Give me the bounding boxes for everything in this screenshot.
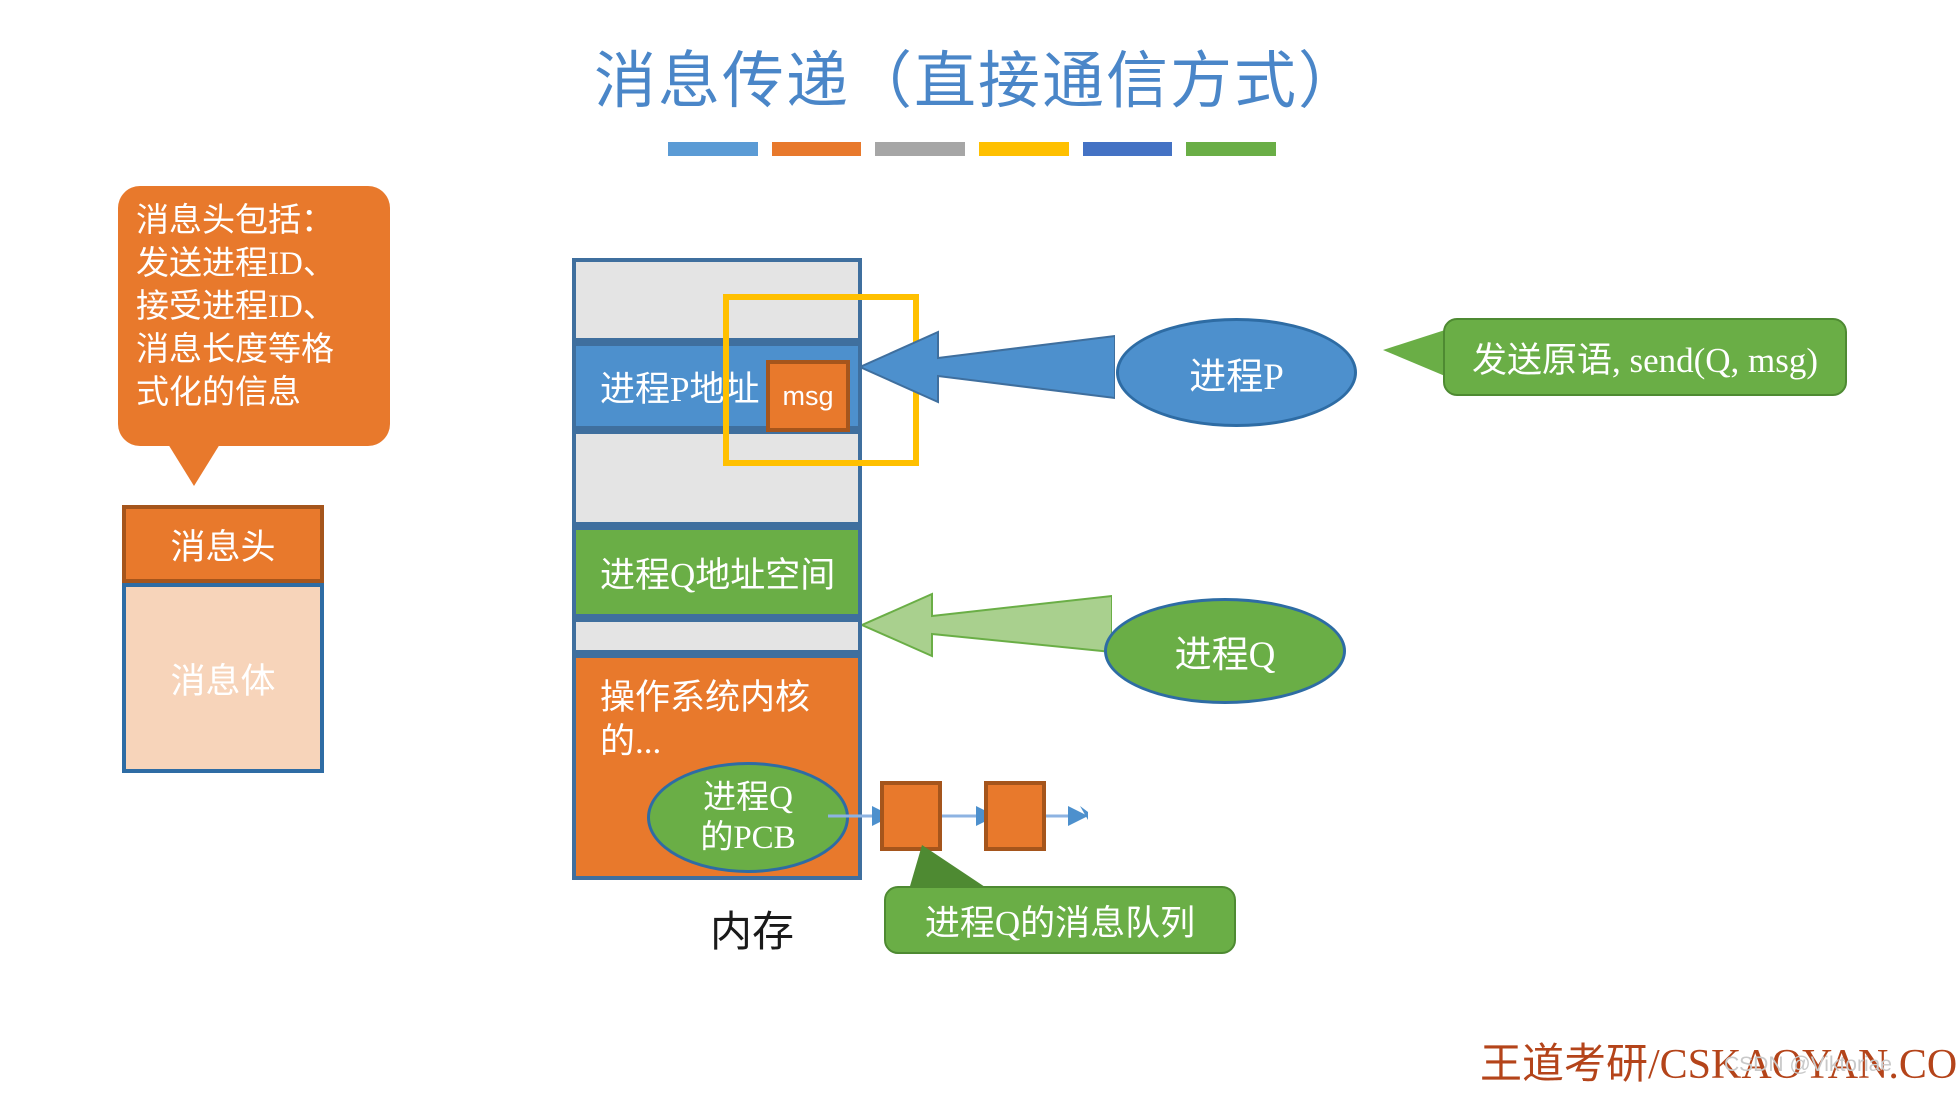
csdn-watermark: CSDN @Viktoriae — [1724, 1053, 1892, 1077]
accent-bar-2 — [772, 142, 862, 156]
slide-canvas: 消息传递（直接通信方式） 消息头包括： 发送进程ID、 接受进程ID、 消息长度… — [0, 0, 1956, 1094]
page-title: 消息传递（直接通信方式） — [0, 30, 1956, 120]
pcb-line-1: 进程Q — [703, 778, 793, 818]
accent-bar-3 — [875, 142, 965, 156]
queue-node-1 — [880, 781, 942, 851]
process-q-ellipse: 进程Q — [1104, 598, 1346, 704]
queue-node-2 — [984, 781, 1046, 851]
memory-label: 内存 — [672, 898, 832, 959]
accent-bar-1 — [668, 142, 758, 156]
message-head-box: 消息头 — [122, 505, 324, 583]
accent-bar-6 — [1186, 142, 1276, 156]
message-body-box: 消息体 — [122, 583, 324, 773]
callout-tail — [168, 444, 220, 486]
pcb-line-2: 的PCB — [700, 818, 795, 858]
send-callout-tail — [1383, 330, 1445, 376]
memory-row-free-3 — [572, 618, 862, 654]
message-header-callout: 消息头包括： 发送进程ID、 接受进程ID、 消息长度等格 式化的信息 — [118, 186, 390, 446]
process-q-pcb-ellipse: 进程Q 的PCB — [647, 762, 849, 873]
process-p-ellipse: 进程P — [1116, 318, 1357, 427]
title-accent-bars — [668, 142, 1276, 156]
send-primitive-callout: 发送原语, send(Q, msg) — [1443, 318, 1847, 396]
accent-bar-5 — [1083, 142, 1173, 156]
accent-bar-4 — [979, 142, 1069, 156]
message-queue-callout: 进程Q的消息队列 — [884, 886, 1236, 954]
receive-arrow — [862, 592, 1112, 658]
memory-row-process-q: 进程Q地址空间 — [572, 526, 862, 618]
send-arrow — [860, 330, 1115, 404]
msg-chip: msg — [766, 360, 850, 432]
